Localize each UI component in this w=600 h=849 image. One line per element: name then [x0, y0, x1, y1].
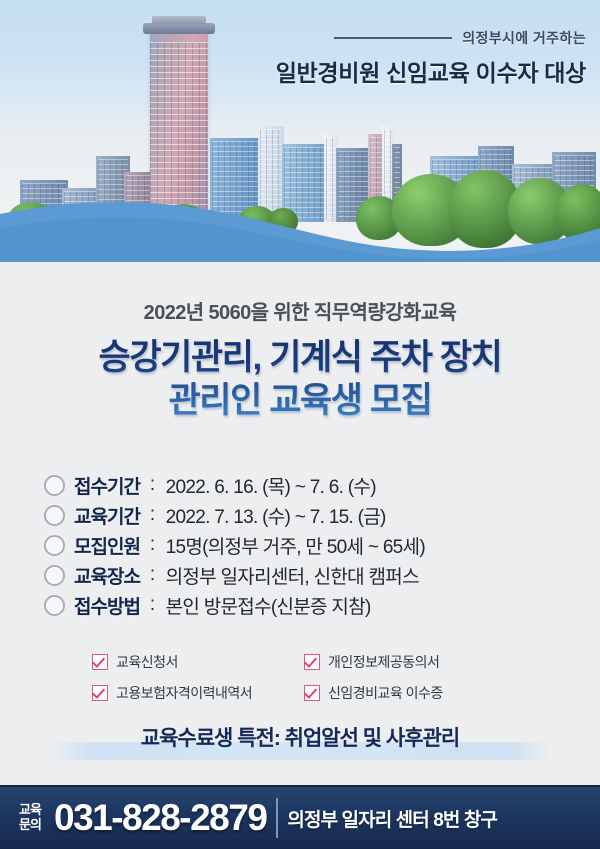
hero-caption: 의정부시에 거주하는 일반경비원 신임교육 이수자 대상: [276, 28, 586, 88]
info-label: 교육장소: [74, 562, 140, 589]
checklist-item: 신임경비교육 이수증: [304, 683, 522, 703]
info-separator: :: [150, 534, 155, 556]
info-row: 접수기간 : 2022. 6. 16. (목) ~ 7. 6. (수): [44, 470, 574, 500]
contact-tag-line-1: 교육: [10, 803, 50, 818]
perk-text: 교육수료생 특전: 취업알선 및 사후관리: [0, 722, 600, 752]
info-row: 접수방법 : 본인 방문접수(신분증 지참): [44, 590, 574, 620]
contact-tag: 교육 문의: [10, 803, 50, 832]
info-separator: :: [150, 504, 155, 526]
info-separator: :: [150, 474, 155, 496]
checkbox-checked-icon: [304, 685, 320, 701]
info-label: 접수기간: [74, 472, 140, 499]
info-separator: :: [150, 594, 155, 616]
checklist-label: 신임경비교육 이수증: [328, 683, 443, 703]
required-documents-checklist: 교육신청서 개인정보제공동의서 고용보험자격이력내역서 신임경비교육 이수증: [92, 652, 522, 703]
ring-bullet-icon: [44, 505, 65, 526]
page-title: 승강기관리, 기계식 주차 장치 관리인 교육생 모집: [0, 336, 600, 423]
ring-bullet-icon: [44, 565, 65, 586]
checklist-label: 고용보험자격이력내역서: [116, 683, 252, 703]
title-line-1: 승강기관리, 기계식 주차 장치: [99, 338, 502, 377]
contact-phone-number[interactable]: 031-828-2879: [54, 797, 266, 839]
info-value: 15명(의정부 거주, 만 50세 ~ 65세): [166, 532, 425, 559]
info-row: 모집인원 : 15명(의정부 거주, 만 50세 ~ 65세): [44, 530, 574, 560]
ring-bullet-icon: [44, 595, 65, 616]
contact-place: 의정부 일자리 센터 8번 창구: [287, 805, 497, 832]
contact-footer: 교육 문의 031-828-2879 의정부 일자리 센터 8번 창구: [0, 785, 600, 849]
info-label: 교육기간: [74, 502, 140, 529]
horizontal-rule-icon: [334, 37, 452, 39]
hero-headline: 일반경비원 신임교육 이수자 대상: [276, 54, 586, 88]
info-row: 교육기간 : 2022. 7. 13. (수) ~ 7. 15. (금): [44, 500, 574, 530]
checkbox-checked-icon: [304, 654, 320, 670]
info-separator: :: [150, 564, 155, 586]
info-value: 2022. 6. 16. (목) ~ 7. 6. (수): [166, 472, 376, 499]
contact-tag-line-2: 문의: [10, 818, 50, 833]
info-row: 교육장소 : 의정부 일자리센터, 신한대 캠퍼스: [44, 560, 574, 590]
ring-bullet-icon: [44, 535, 65, 556]
checkbox-checked-icon: [92, 654, 108, 670]
info-value: 2022. 7. 13. (수) ~ 7. 15. (금): [166, 502, 386, 529]
footer-divider: [276, 798, 278, 838]
info-label: 모집인원: [74, 532, 140, 559]
info-list: 접수기간 : 2022. 6. 16. (목) ~ 7. 6. (수) 교육기간…: [44, 470, 574, 620]
info-value: 본인 방문접수(신분증 지참): [166, 592, 371, 619]
poster-root: 의정부시에 거주하는 일반경비원 신임교육 이수자 대상 2022년 5060을…: [0, 0, 600, 849]
hero-eyebrow-row: 의정부시에 거주하는: [276, 28, 586, 48]
title-line-2: 관리인 교육생 모집: [0, 379, 600, 422]
info-value: 의정부 일자리센터, 신한대 캠퍼스: [166, 562, 419, 589]
checklist-label: 교육신청서: [116, 652, 178, 672]
checklist-item: 고용보험자격이력내역서: [92, 683, 304, 703]
subtitle: 2022년 5060을 위한 직무역량강화교육: [0, 296, 600, 325]
checkbox-checked-icon: [92, 685, 108, 701]
checklist-label: 개인정보제공동의서: [328, 652, 439, 672]
checklist-item: 교육신청서: [92, 652, 304, 672]
hero-eyebrow-text: 의정부시에 거주하는: [462, 28, 586, 48]
river-wave-shape: [0, 184, 600, 262]
checklist-item: 개인정보제공동의서: [304, 652, 522, 672]
hero-banner: 의정부시에 거주하는 일반경비원 신임교육 이수자 대상: [0, 0, 600, 262]
info-label: 접수방법: [74, 592, 140, 619]
perk-banner: 교육수료생 특전: 취업알선 및 사후관리: [0, 722, 600, 762]
ring-bullet-icon: [44, 475, 65, 496]
